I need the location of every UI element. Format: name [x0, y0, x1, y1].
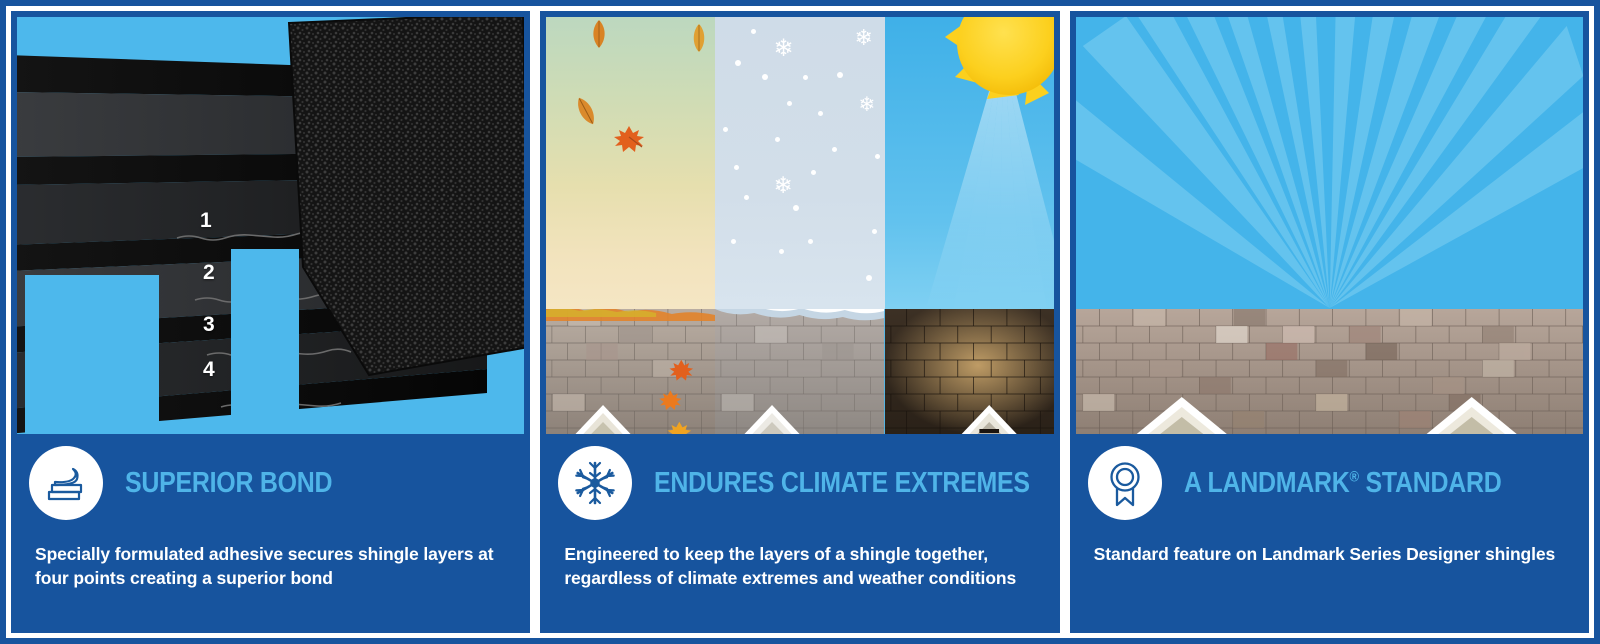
panel-1-title: SUPERIOR BOND [125, 469, 332, 498]
panel-1-artwork: 1 2 3 4 [17, 17, 524, 434]
infographic-container: 1 2 3 4 SUPERIOR BOND Specially [0, 0, 1600, 644]
panel-2-body: Engineered to keep the layers of a shing… [546, 520, 1053, 590]
sun-icon [885, 17, 1054, 309]
bond-point-label-3: 3 [203, 313, 215, 337]
snowflake-icon: ❄ [854, 27, 872, 49]
panel-2-caption: ENDURES CLIMATE EXTREMES Engineered to k… [546, 434, 1053, 627]
panel-a-landmark-standard: A LANDMARK® STANDARD Standard feature on… [1070, 11, 1589, 633]
panel-3-title-main: A LANDMARK [1184, 467, 1350, 499]
winter-shingle-roof [715, 309, 884, 434]
autumn-sky [546, 17, 715, 309]
bond-point-label-1: 1 [200, 209, 212, 233]
three-season-split-illustration: ❄ ❄ ❄ ❄ [546, 17, 1053, 434]
landmark-shingle-roof [1076, 309, 1583, 434]
sunburst-rays [1076, 17, 1583, 309]
panel-2-caption-header: ENDURES CLIMATE EXTREMES [546, 434, 1053, 520]
season-column-autumn [546, 17, 715, 434]
summer-shingle-roof [885, 309, 1054, 434]
sunburst-sky [1076, 17, 1583, 309]
panel-2-artwork: ❄ ❄ ❄ ❄ [546, 17, 1053, 434]
panel-3-title-suffix: STANDARD [1358, 467, 1501, 499]
maple-leaf-icon [612, 125, 646, 153]
registered-mark: ® [1349, 468, 1358, 485]
leaf-icon [689, 23, 709, 53]
season-column-winter: ❄ ❄ ❄ ❄ [715, 17, 884, 434]
shingle-layers-icon [29, 446, 103, 520]
panel-1-body: Specially formulated adhesive secures sh… [17, 520, 524, 590]
panel-2-title: ENDURES CLIMATE EXTREMES [654, 469, 1030, 498]
exploded-shingle-layers-illustration [17, 17, 524, 434]
winter-sky [715, 17, 884, 309]
panel-3-artwork [1076, 17, 1583, 434]
leaf-icon [588, 19, 610, 49]
panel-1-caption: SUPERIOR BOND Specially formulated adhes… [17, 434, 524, 627]
award-ribbon-icon [1088, 446, 1162, 520]
snowflake-icon: ❄ [773, 37, 793, 61]
panel-superior-bond: 1 2 3 4 SUPERIOR BOND Specially [11, 11, 530, 633]
snowflake-icon: ❄ [773, 174, 792, 197]
panel-3-body: Standard feature on Landmark Series Desi… [1076, 520, 1583, 566]
season-column-summer [885, 17, 1054, 434]
snowflake-icon [558, 446, 632, 520]
panel-endures-climate-extremes: ❄ ❄ ❄ ❄ [540, 11, 1059, 633]
panel-3-caption-header: A LANDMARK® STANDARD [1076, 434, 1583, 520]
bond-point-label-2: 2 [203, 261, 215, 285]
bond-point-label-4: 4 [203, 358, 215, 382]
snowflake-icon: ❄ [858, 95, 875, 115]
autumn-shingle-roof [546, 309, 715, 434]
panel-3-caption: A LANDMARK® STANDARD Standard feature on… [1076, 434, 1583, 627]
panel-3-title: A LANDMARK® STANDARD [1184, 469, 1501, 498]
panel-1-caption-header: SUPERIOR BOND [17, 434, 524, 520]
